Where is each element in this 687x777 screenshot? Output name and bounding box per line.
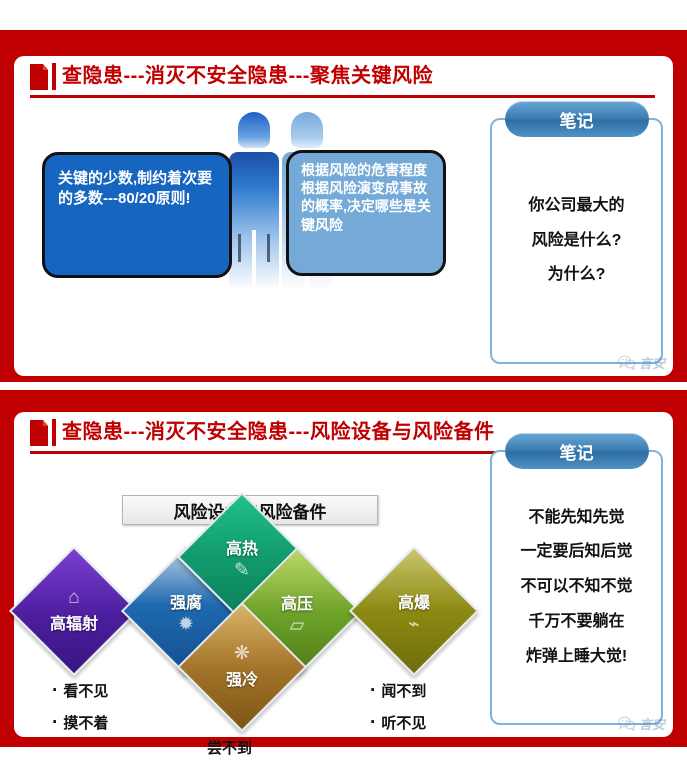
header-accent-bar	[52, 63, 56, 90]
house-icon: ⌂	[68, 588, 79, 607]
slide-1-graphic: 关键的少数,制约着次要的多数---80/20原则! 根据风险的危害程度 根据风险…	[24, 104, 479, 372]
header-accent-bar	[52, 419, 56, 446]
box-icon: ▱	[290, 616, 305, 635]
person-head	[238, 112, 270, 148]
diamond-label: 高辐射	[50, 610, 98, 634]
person-arm-right	[267, 234, 270, 262]
slide-1-title: 查隐患---消灭不安全隐患---聚焦关键风险	[62, 61, 663, 91]
molecule-icon: ❋	[234, 644, 250, 663]
diamond-label: 强冷	[226, 666, 258, 690]
bullet-center: 尝不到	[207, 737, 252, 758]
person-leg-split	[252, 230, 256, 290]
diamond-label: 高压	[281, 590, 313, 614]
notes-line: 你公司最大的	[528, 198, 624, 215]
wechat-watermark-1: 言安	[618, 353, 665, 372]
diamond-content: ⌂ 高辐射	[30, 567, 118, 655]
notes-line: 风险是什么?	[532, 233, 622, 250]
mouse-icon: ⌁	[408, 615, 419, 634]
diamond-content: 高爆 ⌁	[370, 567, 458, 655]
notes-line: 炸弹上睡大觉!	[526, 649, 627, 666]
notes-line: 不能先知先觉	[528, 510, 624, 527]
bullet-left-1: 看不见	[52, 680, 108, 702]
callout-box-risk-criteria: 根据风险的危害程度 根据风险演变成事故的概率,决定哪些是关键风险	[286, 150, 446, 276]
wechat-watermark-2: 言安	[618, 714, 665, 733]
diamond-label: 高爆	[398, 589, 430, 613]
bullet-right-2: 听不见	[370, 712, 426, 734]
red-flag-icon	[30, 420, 48, 446]
wechat-icon	[618, 716, 636, 731]
notes-line: 为什么?	[548, 267, 606, 284]
slide-1-card: 查隐患---消灭不安全隐患---聚焦关键风险	[14, 56, 673, 376]
pencil-icon: ✎	[234, 561, 250, 580]
diamond-content: ❋ 强冷	[198, 623, 286, 711]
notes-body-1: 你公司最大的 风险是什么? 为什么?	[492, 146, 661, 336]
person-head	[291, 112, 323, 148]
callout-box-key-few: 关键的少数,制约着次要的多数---80/20原则!	[42, 152, 232, 278]
diamond-label: 高热	[226, 535, 258, 559]
bullet-right-1: 闻不到	[370, 680, 426, 702]
notes-tab-label-1: 笔记	[505, 101, 649, 137]
bullet-left-2: 摸不着	[52, 712, 108, 734]
notes-line: 千万不要躺在	[528, 614, 624, 631]
globe-icon: ✹	[178, 615, 194, 634]
notes-panel-1: 笔记 你公司最大的 风险是什么? 为什么?	[490, 118, 663, 364]
header-rule	[30, 95, 655, 98]
notes-tab-label-2: 笔记	[505, 433, 649, 469]
slide-1: 查隐患---消灭不安全隐患---聚焦关键风险	[0, 30, 687, 382]
notes-panel-2: 笔记 不能先知先觉 一定要后知后觉 不可以不知不觉 千万不要躺在 炸弹上睡大觉!	[490, 450, 663, 725]
notes-line: 一定要后知后觉	[520, 544, 632, 561]
wechat-icon	[618, 355, 636, 370]
watermark-text: 言安	[639, 714, 665, 733]
person-arm-left	[238, 234, 241, 262]
watermark-text: 言安	[639, 353, 665, 372]
notes-line: 不可以不知不觉	[520, 579, 632, 596]
slide-deck-page: 查隐患---消灭不安全隐患---聚焦关键风险	[0, 0, 687, 777]
notes-body-2: 不能先知先觉 一定要后知后觉 不可以不知不觉 千万不要躺在 炸弹上睡大觉!	[492, 478, 661, 697]
red-flag-icon	[30, 64, 48, 90]
slide-1-header: 查隐患---消灭不安全隐患---聚焦关键风险	[14, 56, 673, 100]
person-dark-blue-icon	[229, 112, 279, 290]
